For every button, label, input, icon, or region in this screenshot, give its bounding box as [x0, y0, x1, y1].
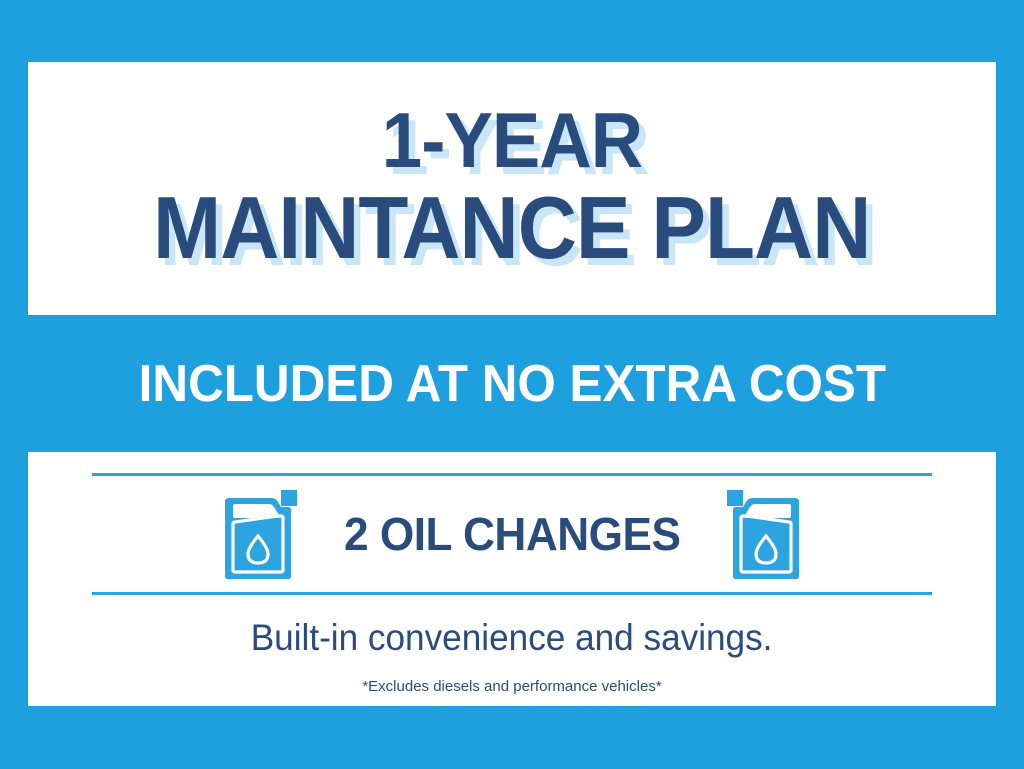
headline-line-1: 1-YEAR — [382, 102, 642, 178]
oil-can-icon — [221, 488, 299, 580]
oil-can-icon — [725, 488, 803, 580]
disclaimer-text: *Excludes diesels and performance vehicl… — [362, 678, 661, 695]
divider-bottom — [92, 592, 932, 595]
headline-panel: 1-YEAR MAINTANCE PLAN — [28, 62, 996, 315]
offer-panel: 2 OIL CHANGES Built-in convenience and s… — [28, 452, 996, 706]
subtitle-text: INCLUDED AT NO EXTRA COST — [138, 354, 885, 414]
subtitle-band: INCLUDED AT NO EXTRA COST — [0, 315, 1024, 452]
offer-title: 2 OIL CHANGES — [344, 507, 680, 561]
tagline: Built-in convenience and savings. — [251, 617, 773, 659]
promo-poster: 1-YEAR MAINTANCE PLAN INCLUDED AT NO EXT… — [0, 0, 1024, 769]
offer-row: 2 OIL CHANGES — [28, 476, 996, 592]
headline-line-2: MAINTANCE PLAN — [153, 185, 870, 271]
